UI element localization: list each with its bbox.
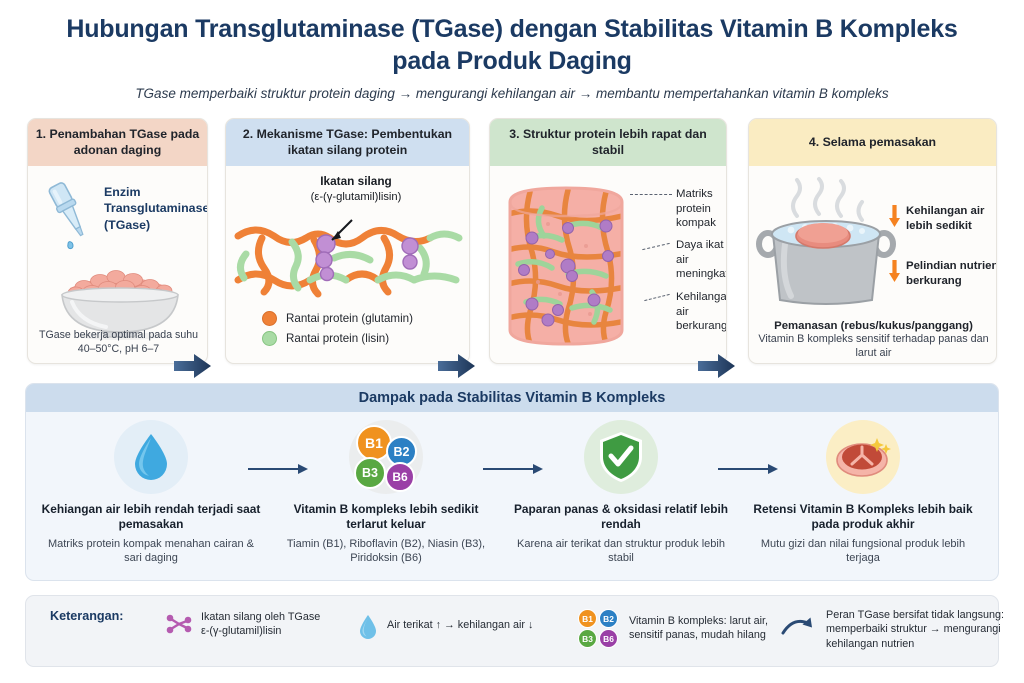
shield-check-icon xyxy=(598,431,644,483)
steak-icon-wrap xyxy=(826,420,900,494)
step-4-note-2-label: Pelindian nutrien berkurang xyxy=(906,259,997,289)
enzyme-label: Enzim Transglutaminase (TGase) xyxy=(104,184,204,233)
vitamin-b6-mini-badge: B6 xyxy=(599,629,618,648)
step-3-annotation-2: Daya ikat air meningkat xyxy=(676,238,727,282)
step-4-note-2: Pelindian nutrien berkurang xyxy=(889,259,997,289)
step-1-body: Enzim Transglutaminase (TGase) xyxy=(28,166,207,364)
legend-item-vitamins-text: Vitamin B kompleks: larut air, sensitif … xyxy=(629,608,768,643)
impact-item-2-title: Vitamin B kompleks lebih sedikit terlaru… xyxy=(275,502,497,533)
process-steps-row: 1. Penambahan TGase pada adonan daging E… xyxy=(0,118,1024,368)
legend-panel-title: Keterangan: xyxy=(50,609,123,623)
step-4-body: Kehilangan air lebih sedikit Pelindian n… xyxy=(749,166,996,364)
steam-icon xyxy=(793,179,862,220)
impact-item-2: B1 B2 B3 B6 Vitamin B kompleks lebih sed… xyxy=(275,420,497,566)
infographic-page: Hubungan Transglutaminase (TGase) dengan… xyxy=(0,0,1024,683)
impact-item-4-title: Retensi Vitamin B Kompleks lebih baik pa… xyxy=(752,502,974,533)
step-2-legend: Rantai protein (glutamin) Rantai protein… xyxy=(262,311,413,351)
step-1-heading: 1. Penambahan TGase pada adonan daging xyxy=(28,119,207,166)
legend-item-water: Air terikat ↑ → kehilangan air ↓ xyxy=(358,614,568,640)
step-4-note-1-label: Kehilangan air lebih sedikit xyxy=(906,204,997,234)
vitamin-b-mini-icon: B1 B2 B3 B6 xyxy=(578,608,620,650)
legend-row-glutamin: Rantai protein (glutamin) xyxy=(262,311,413,326)
impact-item-3-desc: Karena air terikat dan struktur produk l… xyxy=(510,537,732,566)
curved-arrow-icon xyxy=(781,614,817,640)
step-1-footer: TGase bekerja optimal pada suhu 40–50°C,… xyxy=(34,328,203,356)
leader-line-1 xyxy=(630,194,672,195)
glutamin-dot-icon xyxy=(262,311,277,326)
step-3-annotation-1: Matriks protein kompak xyxy=(676,187,727,231)
step-card-3: 3. Struktur protein lebih rapat dan stab… xyxy=(489,118,727,364)
vitamin-b1-mini-badge: B1 xyxy=(578,609,597,628)
water-drop-icon xyxy=(131,432,171,482)
step-3-body: Matriks protein kompak Daya ikat air men… xyxy=(490,166,726,364)
crosslink-annotation-title: Ikatan silang xyxy=(320,174,391,188)
page-title: Hubungan Transglutaminase (TGase) dengan… xyxy=(60,14,964,77)
legend-item-role: Peran TGase bersifat tidak langsung: mem… xyxy=(781,608,1009,651)
step-card-4: 4. Selama pemasakan xyxy=(748,118,997,364)
legend-row-lisin: Rantai protein (lisin) xyxy=(262,331,413,346)
legend-item-vitamins: B1 B2 B3 B6 Vitamin B kompleks: larut ai… xyxy=(578,608,778,650)
crosslink-icon xyxy=(166,611,192,637)
steak-icon xyxy=(835,434,891,480)
leader-line-3 xyxy=(644,294,669,301)
step-arrow-2 xyxy=(438,353,476,379)
down-arrow-icon xyxy=(889,205,900,227)
water-drop-icon xyxy=(358,614,378,640)
impact-panel-title: Dampak pada Stabilitas Vitamin B Komplek… xyxy=(26,384,998,412)
step-arrow-3 xyxy=(698,353,736,379)
page-subtitle: TGase memperbaiki struktur protein dagin… xyxy=(60,86,964,101)
step-4-note-1: Kehilangan air lebih sedikit xyxy=(889,204,997,234)
step-card-2: 2. Mekanisme TGase: Pembentukan ikatan s… xyxy=(225,118,470,364)
legend-vitamins-line2: sensitif panas, mudah hilang xyxy=(629,629,766,641)
dropper-icon xyxy=(40,180,98,264)
step-3-annotation-3: Kehilangan air berkurang xyxy=(676,290,727,334)
impact-item-4-desc: Mutu gizi dan nilai fungsional produk le… xyxy=(752,537,974,566)
crosslink-annotation-sub: (ε-(γ-glutamil)lisin) xyxy=(311,191,402,203)
vitamin-b-cluster-icon: B1 B2 B3 B6 xyxy=(349,420,423,494)
impact-item-1-desc: Matriks protein kompak menahan cairan & … xyxy=(40,537,262,566)
legend-crosslink-line2: ε-(γ-glutamil)lisin xyxy=(201,625,281,637)
vitamin-b-cluster-icon-wrap: B1 B2 B3 B6 xyxy=(349,420,423,494)
shield-check-icon-wrap xyxy=(584,420,658,494)
step-3-heading: 3. Struktur protein lebih rapat dan stab… xyxy=(490,119,726,166)
leader-line-2 xyxy=(642,243,670,250)
water-drop-icon-wrap xyxy=(114,420,188,494)
step-2-heading: 2. Mekanisme TGase: Pembentukan ikatan s… xyxy=(226,119,469,166)
impact-panel: Dampak pada Stabilitas Vitamin B Komplek… xyxy=(25,383,999,581)
impact-item-2-desc: Tiamin (B1), Riboflavin (B2), Niasin (B3… xyxy=(275,537,497,566)
legend-role-line3: kehilangan nutrien xyxy=(826,638,914,650)
legend-panel: Keterangan: Ikatan silang oleh TGase ε-(… xyxy=(25,595,999,667)
step-4-footer-sub: Vitamin B kompleks sensitif terhadap pan… xyxy=(755,332,992,361)
step-card-1: 1. Penambahan TGase pada adonan daging E… xyxy=(27,118,208,364)
step-arrow-1 xyxy=(174,353,212,379)
impact-item-3-title: Paparan panas & oksidasi relatif lebih r… xyxy=(510,502,732,533)
vitamin-b3-badge: B3 xyxy=(354,457,386,489)
legend-item-crosslink: Ikatan silang oleh TGase ε-(γ-glutamil)l… xyxy=(166,610,336,639)
impact-items-row: Kehiangan air lebih rendah terjadi saat … xyxy=(26,412,998,581)
lisin-dot-icon xyxy=(262,331,277,346)
legend-crosslink-line1: Ikatan silang oleh TGase xyxy=(201,611,320,623)
impact-item-1-title: Kehiangan air lebih rendah terjadi saat … xyxy=(40,502,262,533)
legend-label-glutamin: Rantai protein (glutamin) xyxy=(286,312,413,325)
legend-item-role-text: Peran TGase bersifat tidak langsung: mem… xyxy=(826,608,1004,651)
legend-vitamins-line1: Vitamin B kompleks: larut air, xyxy=(629,615,768,627)
protein-network-icon xyxy=(234,218,463,304)
vitamin-b3-mini-badge: B3 xyxy=(578,629,597,648)
impact-item-4: Retensi Vitamin B Kompleks lebih baik pa… xyxy=(752,420,974,566)
step-2-body: Ikatan silang (ε-(γ-glutamil)lisin) xyxy=(226,166,469,364)
vitamin-b6-badge: B6 xyxy=(385,462,415,492)
step-4-footer-bold: Pemanasan (rebus/kukus/panggang) xyxy=(749,320,997,332)
step-4-heading: 4. Selama pemasakan xyxy=(749,119,996,166)
droplet-icon xyxy=(68,242,73,249)
legend-item-water-text: Air terikat ↑ → kehilangan air ↓ xyxy=(387,614,533,632)
legend-label-lisin: Rantai protein (lisin) xyxy=(286,332,389,345)
cooking-pot-icon xyxy=(757,178,899,314)
legend-role-line1: Peran TGase bersifat tidak langsung: xyxy=(826,609,1004,621)
down-arrow-icon xyxy=(889,260,900,282)
vitamin-b2-mini-badge: B2 xyxy=(599,609,618,628)
legend-role-line2: memperbaiki struktur → mengurangi xyxy=(826,623,1001,635)
impact-item-1: Kehiangan air lebih rendah terjadi saat … xyxy=(40,420,262,566)
crosslink-annotation: Ikatan silang (ε-(γ-glutamil)lisin) xyxy=(266,174,446,205)
protein-matrix-cylinder-icon xyxy=(502,182,630,350)
impact-item-3: Paparan panas & oksidasi relatif lebih r… xyxy=(510,420,732,566)
legend-item-crosslink-text: Ikatan silang oleh TGase ε-(γ-glutamil)l… xyxy=(201,610,320,639)
